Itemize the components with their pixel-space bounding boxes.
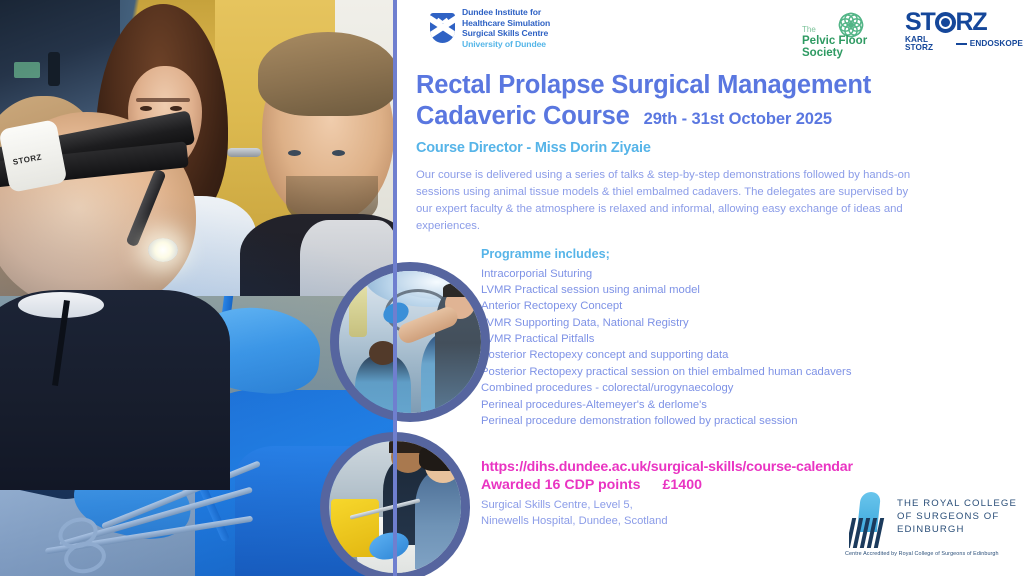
lab-person-right — [415, 471, 470, 569]
dundee-line-1: Dundee Institute for — [462, 7, 550, 18]
karl-storz-logo: STRZ KARL STORZ ENDOSKOPE — [905, 10, 1023, 50]
royal-college-surgeons-edinburgh-logo: THE ROYAL COLLEGE OF SURGEONS OF EDINBUR… — [845, 492, 1017, 566]
rcsed-text: THE ROYAL COLLEGE OF SURGEONS OF EDINBUR… — [897, 498, 1017, 536]
list-item: Perineal procedures-Altemeyer's & derlom… — [481, 397, 1021, 413]
programme-block: Programme includes; Intracorporial Sutur… — [481, 248, 1021, 429]
title-line-2-row: Cadaveric Course 29th - 31st October 202… — [416, 101, 1016, 132]
list-item: LVMR Practical session using animal mode… — [481, 282, 1021, 298]
rcsed-stripes-icon — [849, 518, 887, 548]
dundee-institute-logo: Dundee Institute for Healthcare Simulati… — [430, 7, 550, 49]
title-line-2: Cadaveric Course — [416, 101, 630, 132]
pfs-line-2: Society — [802, 47, 867, 59]
course-price: £1400 — [663, 476, 702, 495]
course-header-block: Rectal Prolapse Surgical Management Cada… — [416, 70, 1016, 235]
rcsed-line-1: THE ROYAL COLLEGE — [897, 498, 1017, 511]
course-calendar-link[interactable]: https://dihs.dundee.ac.uk/surgical-skill… — [481, 458, 1021, 476]
course-description: Our course is delivered using a series o… — [416, 167, 924, 236]
rcsed-accreditation-note: Centre Accredited by Royal College of Su… — [845, 552, 999, 557]
rcsed-line-3: EDINBURGH — [897, 524, 1017, 537]
storz-wordmark: STRZ — [905, 10, 1023, 35]
list-item: Combined procedures - colorectal/urogyna… — [481, 380, 1021, 396]
storz-sub-left: KARL STORZ — [905, 36, 953, 52]
dundee-line-3: Surgical Skills Centre — [462, 28, 550, 39]
storz-dash-icon — [956, 43, 967, 45]
rcsed-mark-icon — [845, 492, 891, 546]
headlamp-light — [148, 238, 178, 262]
list-item: Posterior Rectopexy practical session on… — [481, 364, 1021, 380]
storz-o-ring-icon — [935, 12, 956, 33]
photo-edge-accent — [393, 0, 397, 576]
theatre-person-left — [355, 355, 411, 422]
storz-headlamp-label: STORZ — [12, 152, 43, 166]
dundee-sub: University of Dundee — [462, 39, 550, 50]
pelvic-floor-society-text: The Pelvic Floor Society — [802, 26, 867, 60]
equipment-pole — [349, 285, 367, 337]
programme-heading: Programme includes; — [481, 248, 1021, 261]
storz-wordmark-part-1: ST — [905, 8, 935, 36]
pfs-the: The — [802, 26, 867, 34]
course-dates: 29th - 31st October 2025 — [644, 111, 832, 128]
list-item: Perineal procedure demonstration followe… — [481, 413, 1021, 429]
storz-wordmark-part-2: RZ — [956, 8, 987, 36]
headlamp-brand-pad: STORZ — [0, 119, 68, 193]
list-item: LVMR Practical Pitfalls — [481, 331, 1021, 347]
cpd-points: Awarded 16 CDP points — [481, 476, 641, 495]
rcsed-line-2: OF SURGEONS OF — [897, 511, 1017, 524]
title-line-1: Rectal Prolapse Surgical Management — [416, 70, 1016, 101]
page-title: Rectal Prolapse Surgical Management Cada… — [416, 70, 1016, 132]
dundee-shield-icon — [430, 13, 455, 43]
trainee-scrubs — [0, 290, 230, 490]
programme-list: Intracorporial Suturing LVMR Practical s… — [481, 266, 1021, 430]
list-item: Posterior Rectopexy concept and supporti… — [481, 347, 1021, 363]
dundee-line-2: Healthcare Simulation — [462, 18, 550, 29]
list-item: Intracorporial Suturing — [481, 266, 1021, 282]
logo-bar: Dundee Institute for Healthcare Simulati… — [397, 0, 1024, 66]
course-director: Course Director - Miss Dorin Ziyaie — [416, 141, 1016, 156]
pelvic-floor-society-logo: The Pelvic Floor Society — [802, 9, 882, 57]
storz-sub-right: ENDOSKOPE — [970, 40, 1023, 48]
course-poster: STORZ — [0, 0, 1024, 576]
list-item: LVMR Supporting Data, National Registry — [481, 315, 1021, 331]
pfs-line-1: Pelvic Floor — [802, 35, 867, 47]
dundee-logo-text: Dundee Institute for Healthcare Simulati… — [462, 7, 550, 49]
inset-photo-theatre — [330, 262, 490, 422]
storz-subtitle: KARL STORZ ENDOSKOPE — [905, 36, 1023, 52]
list-item: Anterior Rectopexy Concept — [481, 298, 1021, 314]
